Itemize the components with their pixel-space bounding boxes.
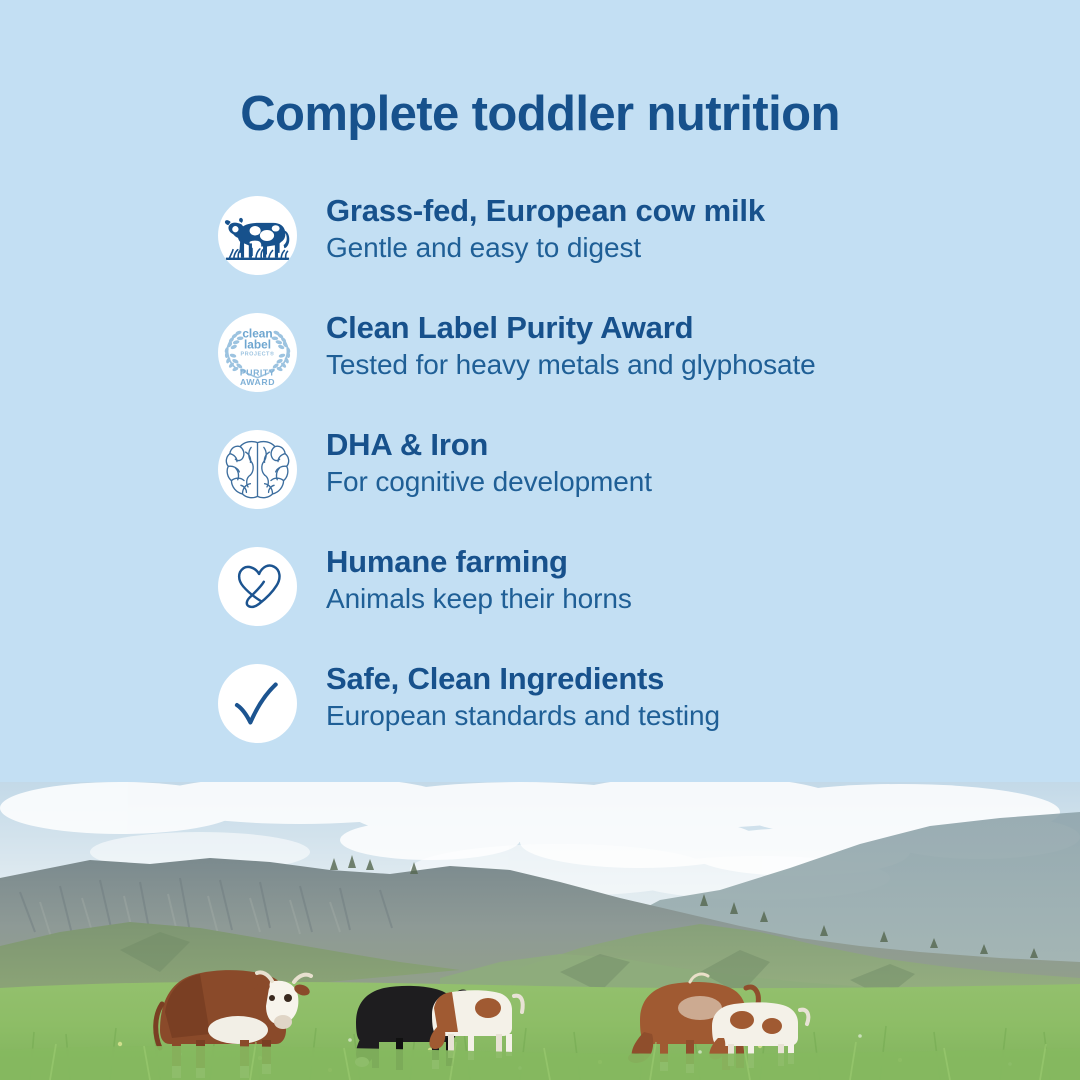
feature-title: Clean Label Purity Award [326, 309, 1016, 347]
feature-text: Safe, Clean Ingredients European standar… [326, 660, 1016, 734]
clean-label-purity-award-badge-icon: clean label PROJECT® PURITY AWARD [218, 313, 297, 392]
badge-text-project: PROJECT® [241, 351, 275, 358]
feature-subtitle: Animals keep their horns [326, 581, 1016, 617]
feature-text: DHA & Iron For cognitive development [326, 426, 1016, 500]
feature-subtitle: European standards and testing [326, 698, 1016, 734]
brain-icon [218, 430, 297, 509]
feature-text: Humane farming Animals keep their horns [326, 543, 1016, 617]
badge-text-purity: PURITY [240, 367, 275, 377]
badge-text-label: label [244, 338, 271, 352]
feature-text: Grass-fed, European cow milk Gentle and … [326, 192, 1016, 266]
page-title: Complete toddler nutrition [0, 88, 1080, 142]
feature-subtitle: For cognitive development [326, 464, 1016, 500]
cow-icon [218, 196, 297, 275]
badge-text-award: AWARD [240, 377, 275, 387]
feature-row: Grass-fed, European cow milk Gentle and … [218, 196, 1018, 313]
feature-row: DHA & Iron For cognitive development [218, 430, 1018, 547]
feature-row: clean label PROJECT® PURITY AWARD Clean … [218, 313, 1018, 430]
feature-row: Safe, Clean Ingredients European standar… [218, 664, 1018, 781]
feature-subtitle: Gentle and easy to digest [326, 230, 1016, 266]
feature-title: Humane farming [326, 543, 1016, 581]
checkmark-icon [218, 664, 297, 743]
feature-title: Safe, Clean Ingredients [326, 660, 1016, 698]
feature-subtitle: Tested for heavy metals and glyphosate [326, 347, 1016, 383]
feature-text: Clean Label Purity Award Tested for heav… [326, 309, 1016, 383]
feature-list: Grass-fed, European cow milk Gentle and … [218, 196, 1018, 781]
heart-icon [218, 547, 297, 626]
feature-title: DHA & Iron [326, 426, 1016, 464]
feature-row: Humane farming Animals keep their horns [218, 547, 1018, 664]
farm-pasture-photo [0, 782, 1080, 1080]
infographic-page: Complete toddler nutrition [0, 0, 1080, 1080]
feature-title: Grass-fed, European cow milk [326, 192, 1016, 230]
